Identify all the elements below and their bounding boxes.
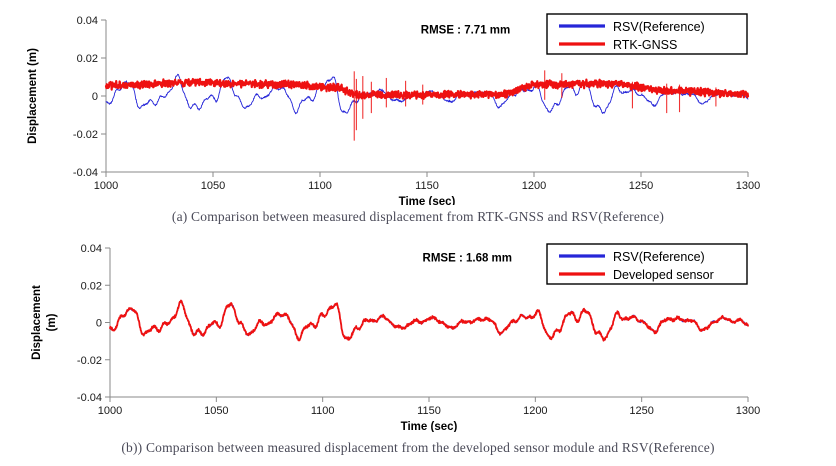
x-tick-label: 1100 bbox=[308, 180, 332, 192]
x-tick-label: 1150 bbox=[415, 180, 439, 192]
y-tick-label: -0.04 bbox=[73, 167, 98, 179]
y-tick-label: 0 bbox=[96, 318, 102, 330]
data-trace bbox=[106, 79, 748, 99]
x-tick-label: 1200 bbox=[522, 180, 546, 192]
legend: RSV(Reference)RTK-GNSS bbox=[547, 14, 747, 54]
caption-a: (a) Comparison between measured displace… bbox=[0, 209, 836, 225]
x-axis-title: Time (sec) bbox=[401, 421, 458, 432]
x-tick-label: 1000 bbox=[94, 180, 118, 192]
x-tick-label: 1250 bbox=[629, 180, 653, 192]
x-tick-label: 1000 bbox=[98, 405, 122, 417]
x-tick-label: 1200 bbox=[523, 405, 547, 417]
y-tick-label: -0.02 bbox=[73, 129, 98, 141]
plot-area-b: -0.04-0.0200.020.04100010501100115012001… bbox=[0, 232, 836, 432]
x-tick-label: 1050 bbox=[201, 180, 225, 192]
y-tick-label: 0.04 bbox=[77, 15, 98, 27]
y-axis-title: (m) bbox=[46, 313, 58, 331]
caption-b: (b)) Comparison between measured displac… bbox=[0, 440, 836, 456]
legend-label: RSV(Reference) bbox=[613, 20, 705, 34]
y-tick-label: -0.04 bbox=[77, 392, 102, 404]
plot-area-a: -0.04-0.0200.020.04100010501100115012001… bbox=[0, 0, 836, 205]
y-axis-title: Displacement (m) bbox=[27, 48, 39, 144]
y-tick-label: 0.04 bbox=[81, 243, 102, 255]
y-axis-title: Displacement bbox=[31, 285, 43, 360]
rmse-annotation: RMSE : 1.68 mm bbox=[423, 252, 512, 264]
legend: RSV(Reference)Developed sensor bbox=[547, 244, 747, 284]
chart-panel-b: -0.04-0.0200.020.04100010501100115012001… bbox=[0, 232, 836, 432]
x-tick-label: 1300 bbox=[736, 405, 760, 417]
x-axis-title: Time (sec) bbox=[399, 196, 456, 205]
y-tick-label: 0.02 bbox=[77, 53, 98, 65]
x-tick-label: 1100 bbox=[311, 405, 335, 417]
y-tick-label: 0.02 bbox=[81, 280, 102, 292]
x-tick-label: 1300 bbox=[736, 180, 760, 192]
rmse-annotation: RMSE : 7.71 mm bbox=[421, 25, 510, 37]
y-tick-label: -0.02 bbox=[77, 355, 102, 367]
chart-panel-a: -0.04-0.0200.020.04100010501100115012001… bbox=[0, 0, 836, 205]
x-tick-label: 1150 bbox=[417, 405, 441, 417]
figure-root: -0.04-0.0200.020.04100010501100115012001… bbox=[0, 0, 836, 466]
legend-label: Developed sensor bbox=[613, 268, 714, 282]
data-trace bbox=[110, 301, 748, 341]
legend-label: RTK-GNSS bbox=[613, 38, 677, 52]
y-tick-label: 0 bbox=[92, 91, 98, 103]
legend-label: RSV(Reference) bbox=[613, 250, 705, 264]
x-tick-label: 1050 bbox=[204, 405, 228, 417]
x-tick-label: 1250 bbox=[629, 405, 653, 417]
